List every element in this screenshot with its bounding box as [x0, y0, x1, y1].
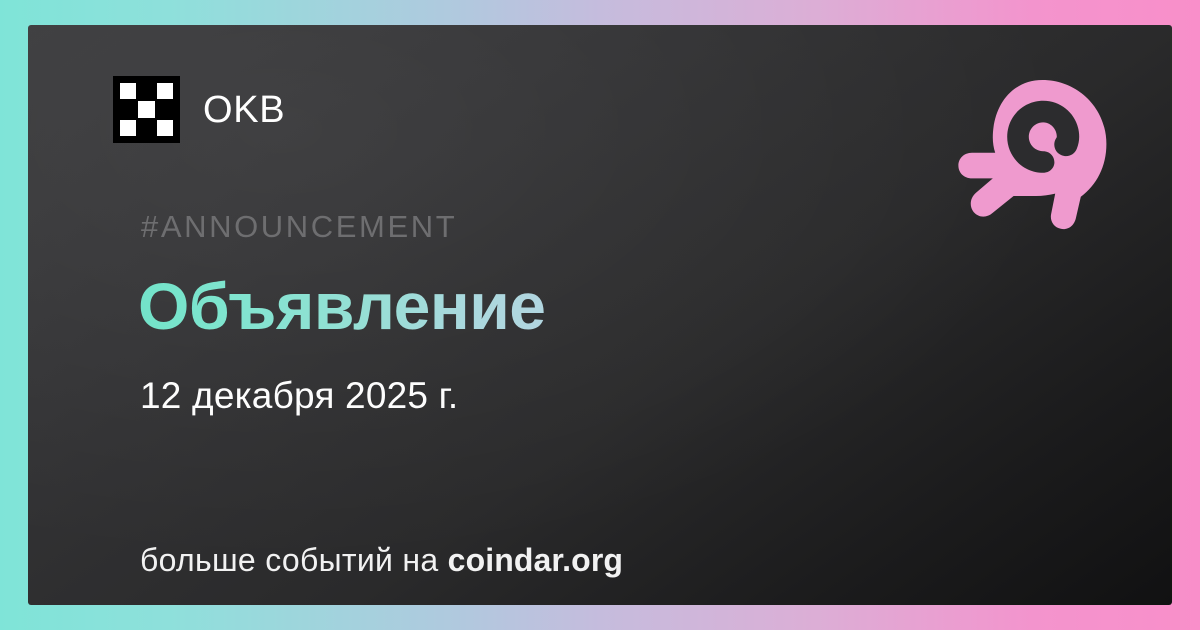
- coindar-jellyfish-icon: [956, 72, 1116, 232]
- footer-prefix: больше событий на: [140, 542, 448, 578]
- coin-identity: OKB: [113, 76, 285, 143]
- event-date: 12 декабря 2025 г.: [140, 377, 458, 414]
- footer-site-link[interactable]: coindar.org: [448, 542, 623, 578]
- okx-checker-logo-icon: [113, 76, 180, 143]
- footer-attribution: больше событий на coindar.org: [140, 544, 623, 576]
- coin-ticker: OKB: [203, 91, 285, 129]
- event-category-tag: #ANNOUNCEMENT: [141, 211, 457, 242]
- announcement-card: OKB #ANNOUNCEMENT Объявление 12 декабря …: [28, 25, 1172, 605]
- page-title: Объявление: [138, 273, 545, 340]
- poster-canvas: OKB #ANNOUNCEMENT Объявление 12 декабря …: [0, 0, 1200, 630]
